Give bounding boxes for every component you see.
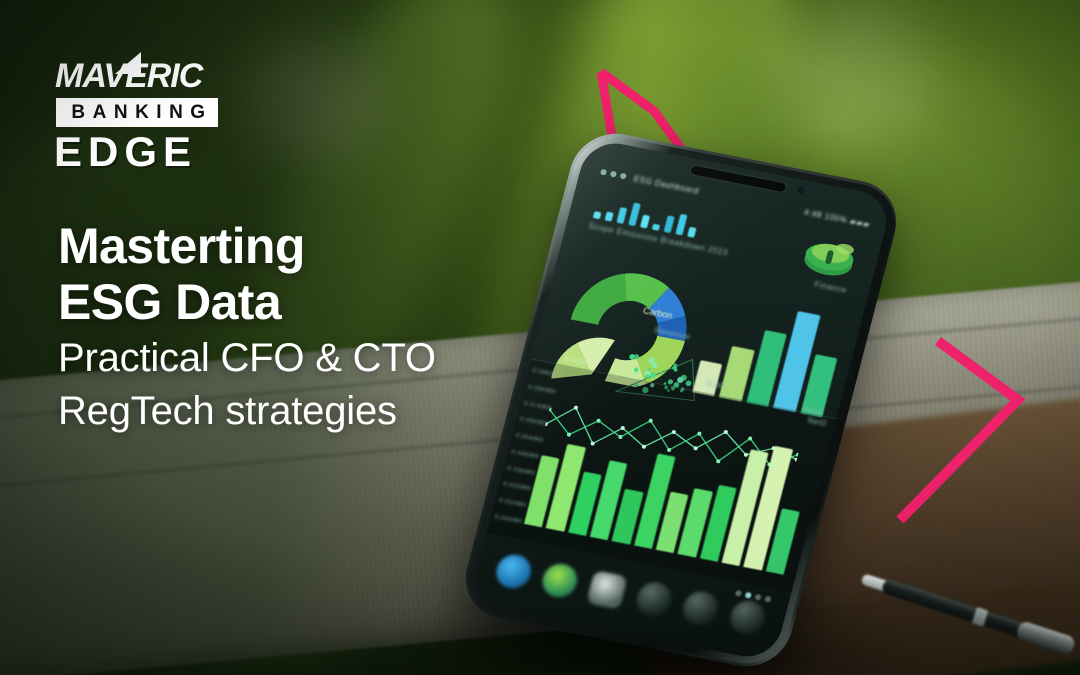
vignette-overlay <box>0 0 1080 675</box>
promo-banner: ESG Dashboard 4:48 100% ▰▰▰ Scope Emissi… <box>0 0 1080 675</box>
